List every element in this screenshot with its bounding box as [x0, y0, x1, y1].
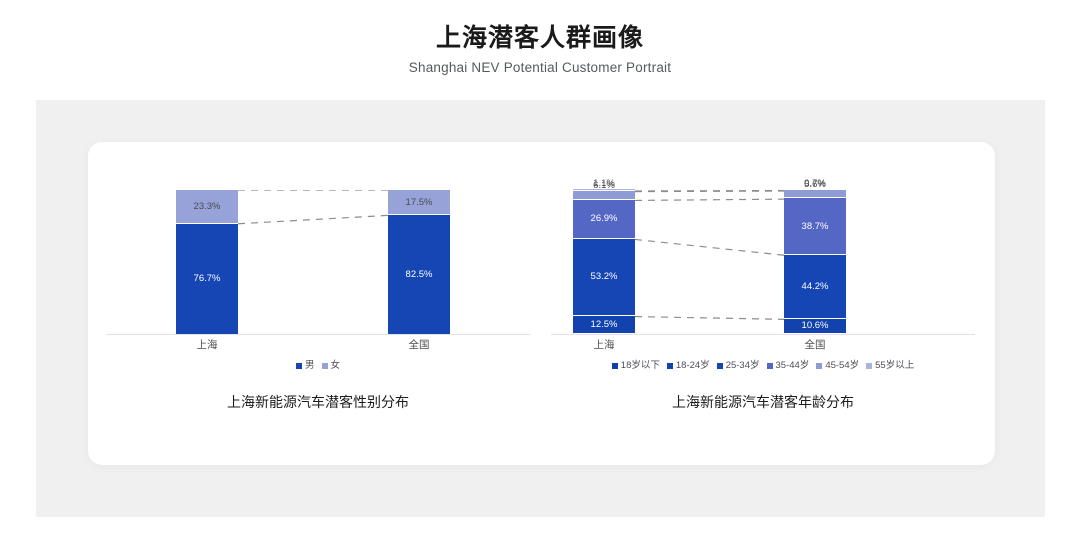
legend-label: 25-34岁	[726, 360, 760, 372]
legend-swatch-icon	[816, 363, 822, 369]
bar-segment: 76.7%	[176, 223, 238, 334]
legend-swatch-icon	[612, 363, 618, 369]
bar-segment-label: 23.3%	[194, 201, 221, 212]
legend-item[interactable]: 18岁以下	[612, 360, 660, 372]
legend-gender: 男女	[98, 360, 538, 372]
category-label: 全国	[374, 338, 464, 352]
stacked-bar: 0.2%12.5%53.2%26.9%6.1%1.1%	[573, 188, 635, 334]
bar-segment-label: 53.2%	[591, 271, 618, 282]
bar-segment: 1.1%	[573, 188, 635, 190]
connector-line	[635, 199, 784, 200]
bar-segment: 23.3%	[176, 189, 238, 223]
legend-item[interactable]: 女	[322, 360, 341, 372]
bar-segment-label: 10.6%	[802, 320, 829, 331]
legend-item[interactable]: 25-34岁	[717, 360, 760, 372]
stacked-bar: 82.5%17.5%	[388, 189, 450, 334]
connector-line	[635, 317, 784, 320]
legend-label: 45-54岁	[825, 360, 859, 372]
bar-segment: 0.2%	[573, 333, 635, 334]
category-labels-gender: 上海全国	[98, 338, 538, 354]
bar-segment: 53.2%	[573, 238, 635, 315]
legend-label: 18岁以下	[621, 360, 660, 372]
bar-segment-label: 82.5%	[406, 269, 433, 280]
plot-area-age: 0.2%12.5%53.2%26.9%6.1%1.1%0.2%10.6%44.2…	[543, 190, 983, 335]
bar-segment-label: 76.7%	[194, 273, 221, 284]
category-label: 上海	[559, 338, 649, 352]
bar-segment: 44.2%	[784, 254, 846, 318]
bar-segment: 12.5%	[573, 315, 635, 333]
connector-line	[635, 191, 784, 192]
bar-segment: 0.7%	[784, 188, 846, 189]
bar-segment: 5.6%	[784, 189, 846, 197]
connector-lines-gender	[98, 190, 538, 335]
legend-swatch-icon	[717, 363, 723, 369]
bar-segment: 10.6%	[784, 318, 846, 333]
header: 上海潜客人群画像 Shanghai NEV Potential Customer…	[0, 22, 1080, 77]
legend-label: 55岁以上	[875, 360, 914, 372]
legend-item[interactable]: 男	[296, 360, 315, 372]
legend-swatch-icon	[767, 363, 773, 369]
legend-item[interactable]: 18-24岁	[667, 360, 710, 372]
page-title: 上海潜客人群画像	[0, 22, 1080, 54]
chart-age-distribution: 0.2%12.5%53.2%26.9%6.1%1.1%0.2%10.6%44.2…	[543, 142, 983, 465]
legend-item[interactable]: 45-54岁	[816, 360, 859, 372]
legend-swatch-icon	[296, 363, 302, 369]
legend-label: 男	[305, 360, 315, 372]
connector-line	[238, 215, 388, 223]
legend-label: 女	[331, 360, 341, 372]
bar-segment-label: 26.9%	[591, 213, 618, 224]
bar-segment-label: 1.1%	[593, 178, 615, 189]
caption-age: 上海新能源汽车潜客年龄分布	[543, 392, 983, 412]
bar-segment: 0.2%	[784, 333, 846, 334]
chart-gender-distribution: 76.7%23.3%82.5%17.5% 上海全国 男女 上海新能源汽车潜客性别…	[98, 142, 538, 465]
legend-label: 35-44岁	[776, 360, 810, 372]
axis-line-age	[551, 334, 975, 335]
bar-segment-label: 12.5%	[591, 319, 618, 330]
plot-area-gender: 76.7%23.3%82.5%17.5%	[98, 190, 538, 335]
page-subtitle: Shanghai NEV Potential Customer Portrait	[0, 59, 1080, 77]
legend-item[interactable]: 35-44岁	[767, 360, 810, 372]
category-labels-age: 上海全国	[543, 338, 983, 354]
bar-segment: 17.5%	[388, 189, 450, 214]
legend-age: 18岁以下18-24岁25-34岁35-44岁45-54岁55岁以上	[543, 360, 983, 372]
bar-segment: 38.7%	[784, 197, 846, 253]
legend-swatch-icon	[667, 363, 673, 369]
caption-gender: 上海新能源汽车潜客性别分布	[98, 392, 538, 412]
charts-card: 76.7%23.3%82.5%17.5% 上海全国 男女 上海新能源汽车潜客性别…	[88, 142, 995, 465]
legend-label: 18-24岁	[676, 360, 710, 372]
bar-segment-label: 38.7%	[802, 221, 829, 232]
legend-item[interactable]: 55岁以上	[866, 360, 914, 372]
stacked-bar: 76.7%23.3%	[176, 189, 238, 334]
legend-swatch-icon	[322, 363, 328, 369]
bar-segment: 6.1%	[573, 190, 635, 199]
bar-segment-label: 44.2%	[802, 281, 829, 292]
category-label: 全国	[770, 338, 860, 352]
bar-segment-label: 0.7%	[804, 178, 826, 189]
bar-segment-label: 17.5%	[406, 197, 433, 208]
bar-segment: 82.5%	[388, 214, 450, 334]
axis-line-gender	[106, 334, 530, 335]
category-label: 上海	[162, 338, 252, 352]
bar-segment: 26.9%	[573, 199, 635, 238]
legend-swatch-icon	[866, 363, 872, 369]
stacked-bar: 0.2%10.6%44.2%38.7%5.6%0.7%	[784, 188, 846, 334]
slide-canvas: 上海潜客人群画像 Shanghai NEV Potential Customer…	[0, 0, 1080, 547]
connector-line	[635, 239, 784, 255]
